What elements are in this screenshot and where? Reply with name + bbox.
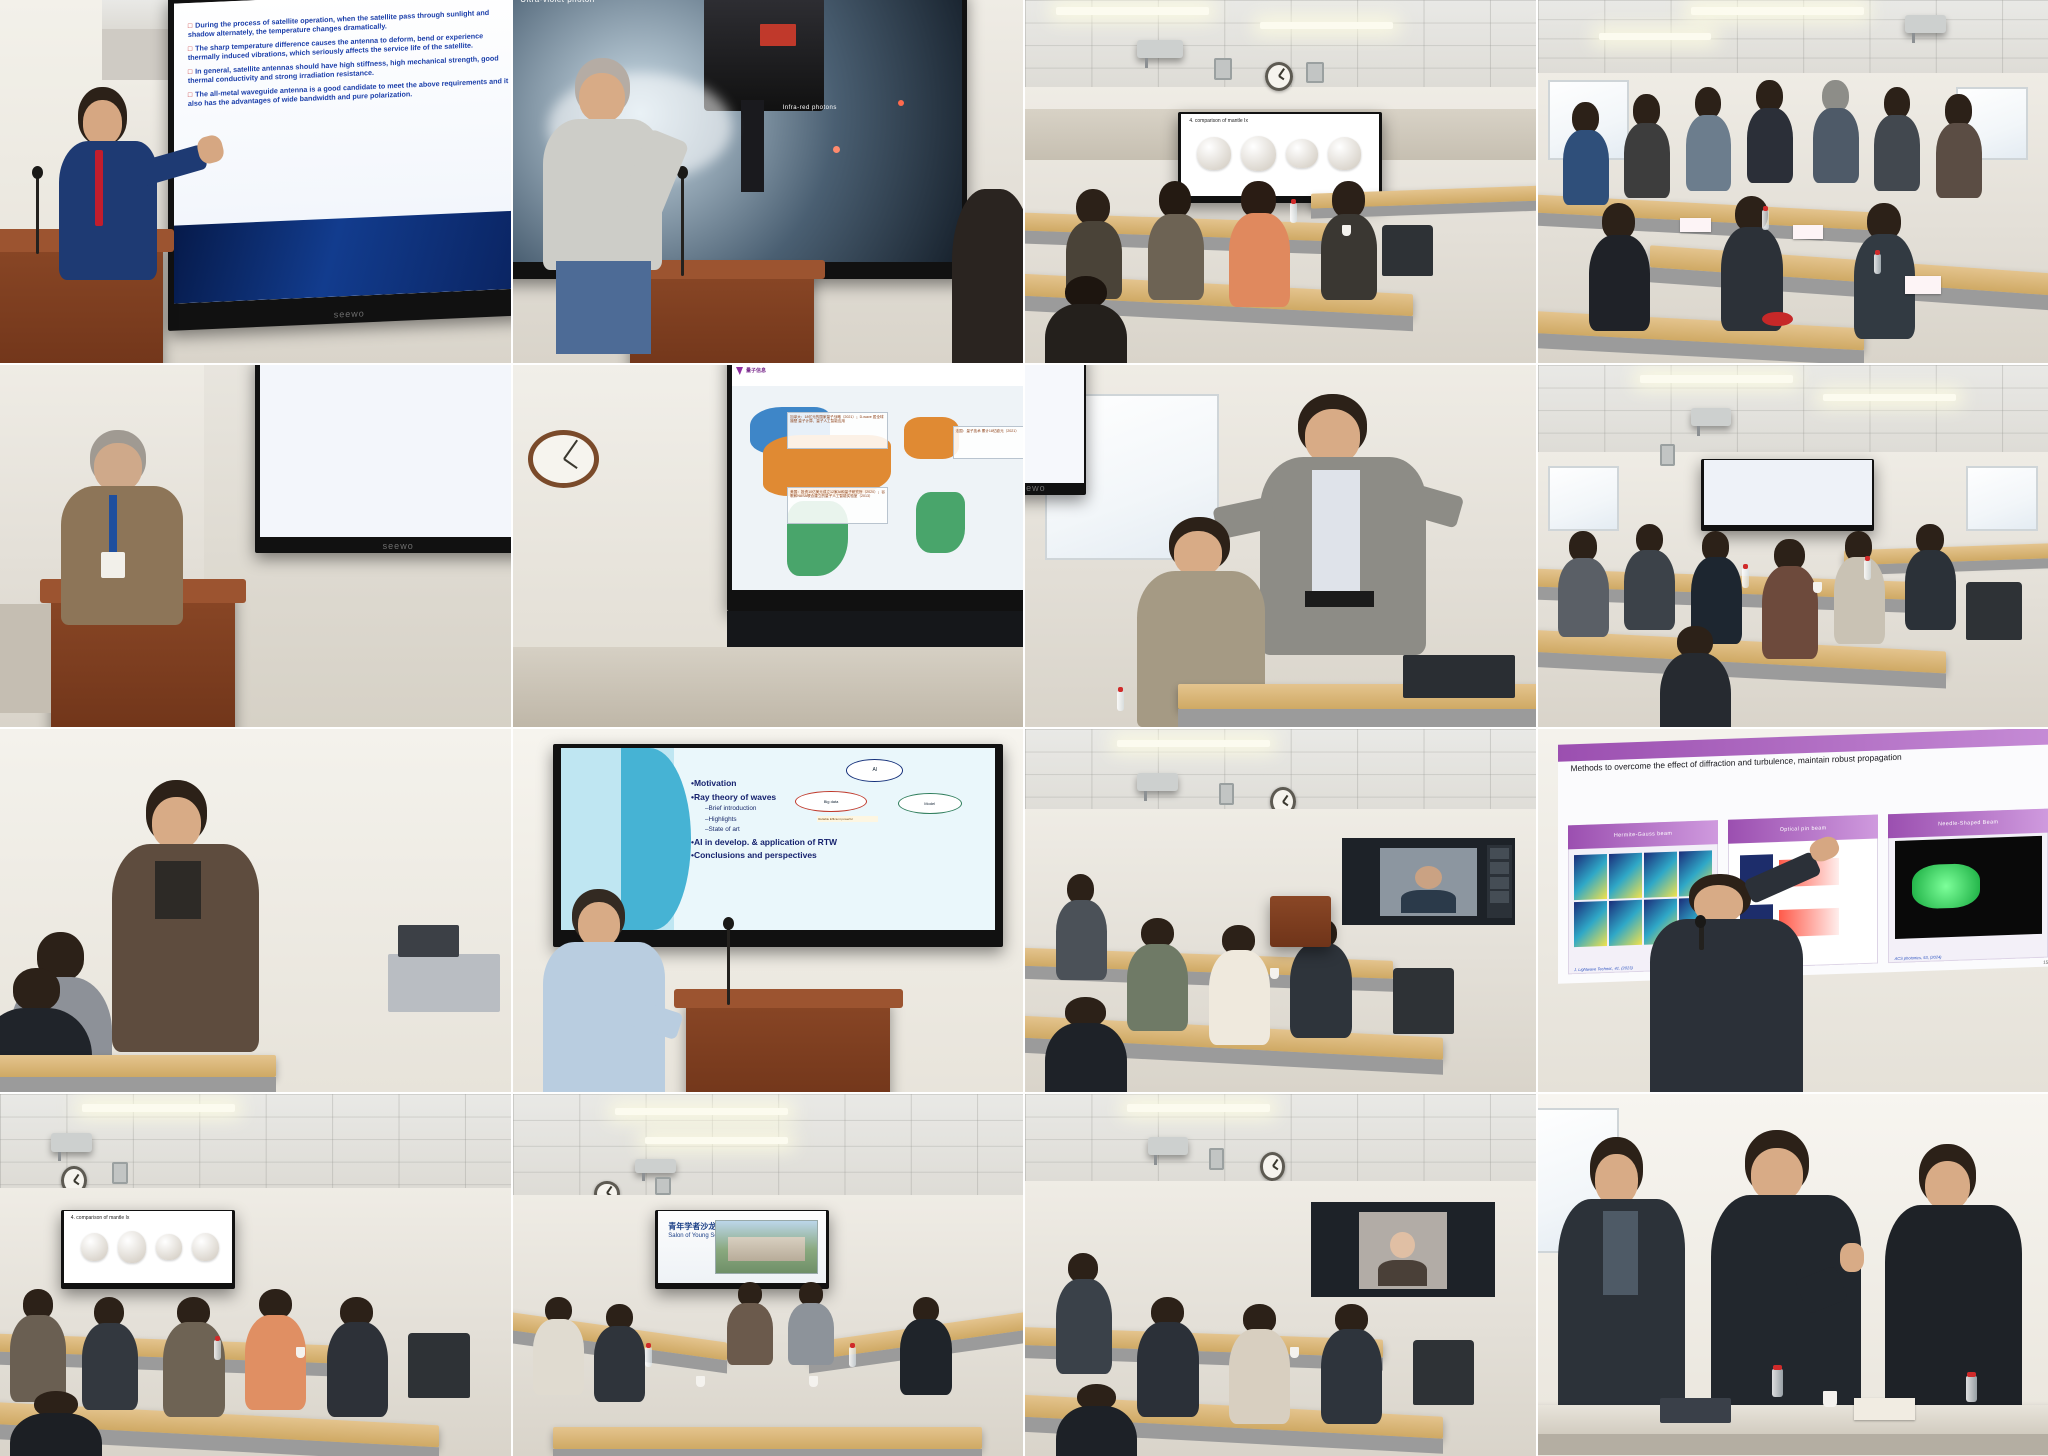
collage-cell-r2c2: 量子信息 加拿大：18亿元的国家量子战略（2021）；D-wave 居全球翘楚 …: [513, 365, 1024, 728]
slide-satellite-antenna: During the process of satellite operatio…: [174, 0, 510, 304]
speaker: [112, 780, 265, 1070]
speaker: [1650, 874, 1813, 1092]
speaker: [543, 889, 676, 1092]
audience-member: [1905, 524, 1956, 626]
video-conference-screen: [1311, 1202, 1495, 1296]
display-screen: seewo: [1025, 365, 1086, 496]
handheld-microphone: [1699, 923, 1704, 950]
screen-brand-label: seewo: [383, 541, 414, 551]
audience-member: [1209, 925, 1270, 1041]
slide-page-number: 15: [2043, 960, 2048, 965]
water-bottle: [1966, 1376, 1977, 1402]
audience-member: [1813, 80, 1859, 182]
podium: [686, 997, 890, 1091]
needle-beam-figure: [1894, 836, 2041, 939]
audience-member: [788, 1282, 834, 1362]
audience-member: [1834, 531, 1885, 640]
audience-member: [1229, 1304, 1290, 1420]
audience-member: [1229, 181, 1290, 304]
audience-member: [1558, 531, 1609, 633]
audience-member: [1762, 539, 1818, 655]
ceiling-projector: [1137, 773, 1178, 791]
audience-member: [1045, 997, 1127, 1091]
audience-member: [1045, 276, 1127, 363]
audience-member: [1874, 87, 1920, 189]
audience-member: [1321, 181, 1377, 297]
slide-title: 4. comparison of mantle Ix: [1189, 118, 1248, 124]
wall-speaker: [1219, 783, 1234, 805]
ceiling-projector: [1148, 1137, 1189, 1155]
collage-cell-r4c4: [1538, 1094, 2048, 1456]
chair: [1413, 1340, 1474, 1405]
chair: [1382, 225, 1433, 276]
audience-member: [1691, 531, 1742, 640]
slide-mollusk-comparison: 4. comparison of mantle Ix: [64, 1211, 232, 1283]
collage-cell-r2c3: seewo: [1025, 365, 1536, 728]
audience-member: [1563, 102, 1609, 204]
collage-cell-r3c3: [1025, 729, 1536, 1092]
water-bottle: [849, 1347, 856, 1367]
audience-member: [1660, 626, 1731, 728]
slide-title: 4. comparison of mantle Ix: [71, 1215, 130, 1221]
notepad: [1854, 1398, 1915, 1420]
paper-cup: [696, 1376, 705, 1387]
name-card: [1793, 225, 1824, 240]
wall-clock: [1260, 1152, 1286, 1181]
collage-cell-r3c4: Methods to overcome the effect of diffra…: [1538, 729, 2048, 1092]
wall-speaker: [112, 1162, 127, 1184]
wall-clock: [528, 430, 599, 488]
water-bottle: [214, 1340, 221, 1360]
audience-member: [1137, 1297, 1198, 1413]
map-note-canada: 加拿大：18亿元的国家量子战略（2021）；D-wave 居全球翘楚 量子计算、…: [787, 412, 888, 450]
ceiling-projector: [51, 1133, 92, 1151]
water-bottle: [1864, 560, 1871, 580]
slide-decoration: [174, 210, 510, 303]
water-bottle: [1772, 1369, 1783, 1397]
water-bottle: [1874, 254, 1881, 274]
water-bottle: [1290, 203, 1297, 223]
chair: [1393, 968, 1454, 1033]
audience-member: [1747, 80, 1793, 182]
paper-cup: [1342, 225, 1351, 236]
map-note-france: 法国：量子技术 累计18亿欧元（2021）: [953, 426, 1023, 459]
podium: [1270, 896, 1331, 947]
wall-speaker: [1214, 58, 1232, 80]
collage-cell-r1c4: [1538, 0, 2048, 363]
remote-participant-tile: [1380, 848, 1477, 916]
desk: [0, 1055, 276, 1077]
display-screen: 4. comparison of mantle Ix: [61, 1210, 235, 1290]
audience-member: [1321, 1304, 1382, 1420]
collage-cell-r1c3: 4. comparison of mantle Ix: [1025, 0, 1536, 363]
video-conference-screen: [1342, 838, 1516, 925]
water-bottle: [645, 1347, 652, 1367]
node-ai: AI: [846, 759, 903, 782]
audience-member: [1589, 203, 1650, 326]
chair: [408, 1333, 469, 1398]
audience-member: [327, 1297, 388, 1413]
speaker: [538, 58, 691, 348]
laptop: [1660, 1398, 1731, 1423]
audience-member: [1854, 203, 1915, 334]
paper-cup: [1823, 1391, 1837, 1407]
audience-member: [594, 1304, 645, 1398]
collage-cell-r3c2: Motivation Ray theory of waves Brief int…: [513, 729, 1024, 1092]
audience-member: [1056, 1384, 1138, 1456]
panel-title: Optical pin beam: [1728, 815, 1878, 844]
paper-cup: [296, 1347, 305, 1358]
panel-title: Needle-Shaped Beam: [1888, 809, 2048, 838]
slide-title-cn: 青年学者沙龙: [668, 1221, 716, 1232]
audience-member: [10, 1391, 102, 1456]
map-note-usa: 美国：投资10亿美元成立12家AI和量子研究所（2020）；谷歌和NASA联合建…: [787, 487, 888, 525]
panelist-right: [1885, 1144, 2028, 1420]
audience-member: [1624, 524, 1675, 626]
display-screen: 青年学者沙龙 Salon of Young Scholars: [655, 1210, 829, 1290]
ceiling-projector: [1691, 408, 1732, 426]
wall-speaker: [1209, 1148, 1224, 1170]
audience-member: [1686, 87, 1732, 189]
ai-diagram: AI Big data Model Reliable Efficient pow…: [795, 759, 978, 854]
water-bottle: [1742, 568, 1749, 588]
node-note: Reliable Efficient powerful: [817, 816, 877, 822]
speaker: [56, 87, 179, 312]
logo-icon: [736, 367, 743, 375]
audience-member: [1127, 918, 1188, 1027]
window: [1548, 466, 1619, 531]
node-bigdata: Big data: [795, 791, 866, 812]
name-card: [1680, 218, 1711, 233]
citation: J. Lightwave Technol., 41. (2023): [1574, 966, 1633, 973]
node-model: Model: [898, 793, 962, 814]
audience-member: [727, 1282, 773, 1362]
collage-cell-r3c1: [0, 729, 511, 1092]
paper-cup: [1813, 582, 1822, 593]
collage-cell-r1c1: During the process of satellite operatio…: [0, 0, 511, 363]
collage-cell-r2c4: [1538, 365, 2048, 728]
panelist-left: [1558, 1137, 1691, 1420]
audience-member: [900, 1297, 951, 1391]
audience-member: [1721, 196, 1782, 327]
audience-member: [10, 1289, 66, 1398]
desk-row: [553, 1427, 982, 1449]
name-card: [1905, 276, 1941, 294]
collage-cell-r4c3: [1025, 1094, 1536, 1456]
screen-brand-label: seewo: [1025, 483, 1046, 493]
panelist-center-speaking: [1711, 1130, 1864, 1427]
ceiling-projector: [635, 1159, 676, 1174]
audience-member: [82, 1297, 138, 1406]
panel-needle-shaped: Needle-Shaped Beam ACS photonics, 53, (2…: [1888, 809, 2048, 963]
speaker: [61, 430, 194, 648]
collage-cell-r4c2: 青年学者沙龙 Salon of Young Scholars: [513, 1094, 1024, 1456]
slide-label-uv: Ultra-violet photon: [520, 0, 676, 4]
participant-strip: [1487, 845, 1511, 918]
slide-logo-text: 量子信息: [746, 367, 766, 374]
microphone: [36, 174, 39, 254]
remote-participant-tile: [1359, 1212, 1447, 1289]
ceiling-projector: [1905, 15, 1946, 33]
panel-title: Hermite-Gauss beam: [1568, 821, 1718, 850]
wall-speaker: [655, 1177, 670, 1195]
audience-member: [1056, 1253, 1112, 1369]
slide-campus-photo: [715, 1220, 818, 1274]
panel-table: [1538, 1405, 2048, 1434]
audience-member: [1624, 94, 1670, 196]
collage-cell-r4c1: 4. comparison of mantle Ix: [0, 1094, 511, 1456]
wall-speaker: [1306, 62, 1324, 84]
audience-member: [1148, 181, 1204, 297]
collage-cell-r2c1: seewo: [0, 365, 511, 728]
display-screen: [1701, 459, 1875, 532]
slide-world-map: 量子信息 加拿大：18亿元的国家量子战略（2021）；D-wave 居全球翘楚 …: [732, 365, 1023, 591]
citation: ACS photonics, 53, (2024): [1894, 955, 1941, 962]
microphone: [727, 925, 730, 1005]
audience-member: [1936, 94, 1982, 196]
collage-cell-r1c2: Ultra-violet photon Infra-red photons se…: [513, 0, 1024, 363]
audience-member: [1056, 874, 1107, 976]
water-bottle: [1762, 210, 1769, 230]
window: [1966, 466, 2037, 531]
wall-clock: [1265, 62, 1293, 91]
wall-speaker: [1660, 444, 1675, 466]
paper-cup: [1270, 968, 1279, 979]
slide-salon-title: 青年学者沙龙 Salon of Young Scholars: [658, 1211, 826, 1283]
screen-brand-label: seewo: [334, 308, 365, 319]
water-bottle: [1117, 691, 1124, 711]
slide-label-ir: Infra-red photons: [783, 105, 837, 111]
ceiling-projector: [1137, 40, 1183, 58]
photo-collage: During the process of satellite operatio…: [0, 0, 2048, 1456]
display-screen: 量子信息 加拿大：18亿元的国家量子战略（2021）；D-wave 居全球翘楚 …: [727, 365, 1023, 612]
paper-cup: [809, 1376, 818, 1387]
chair: [1966, 582, 2022, 640]
display-screen: During the process of satellite operatio…: [168, 0, 510, 331]
display-screen: seewo: [255, 365, 510, 554]
audience-member: [533, 1297, 584, 1391]
